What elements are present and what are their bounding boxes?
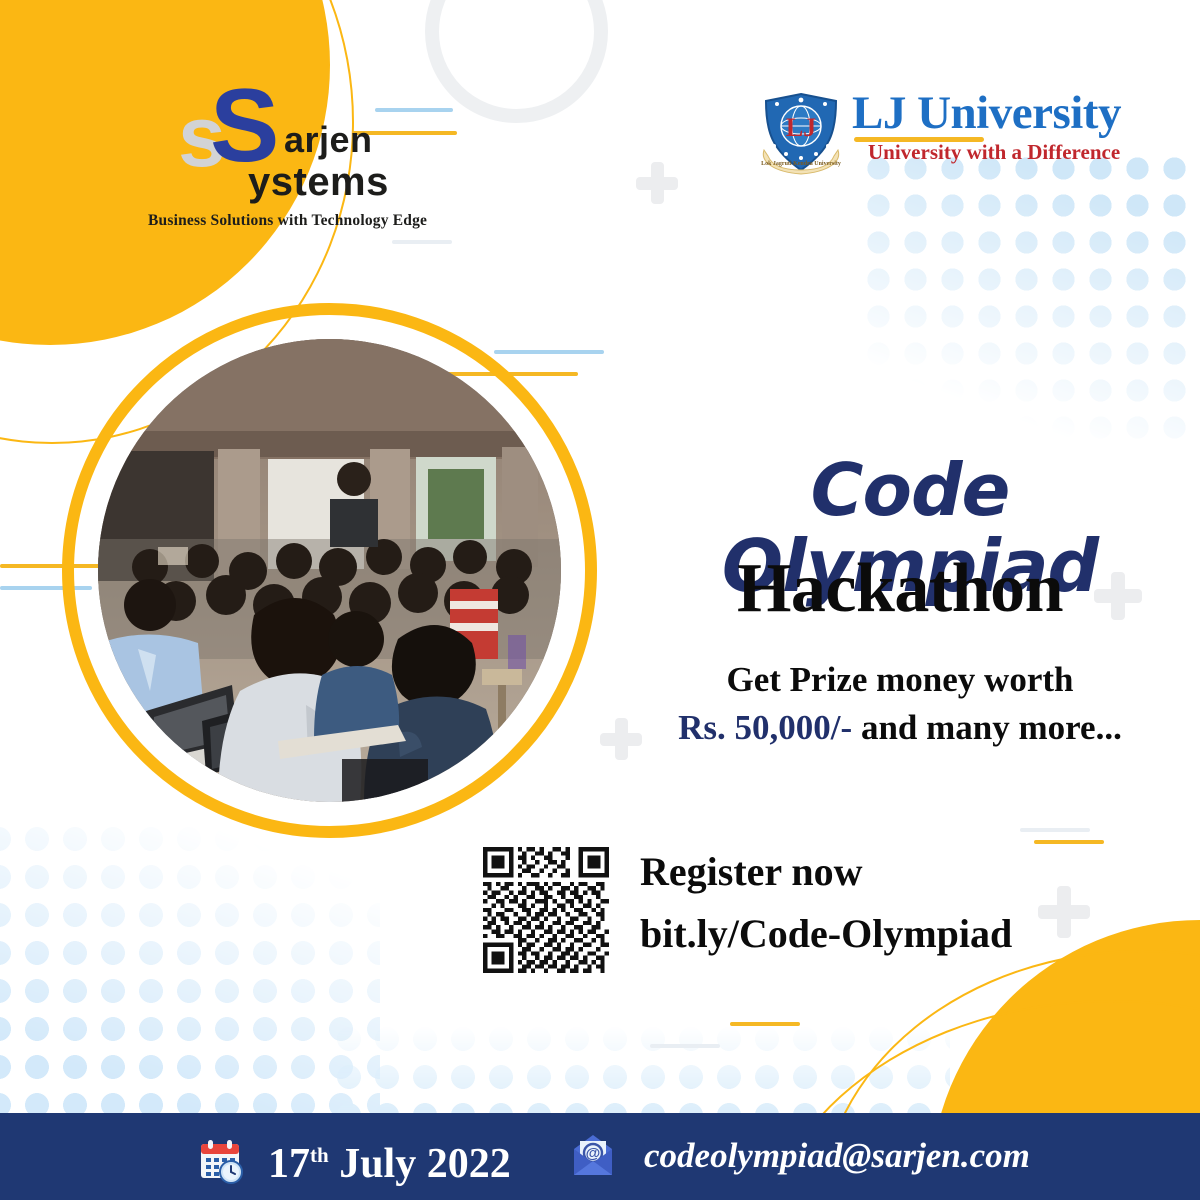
footer-date-item: 17th July 2022	[196, 1131, 511, 1188]
calendar-icon	[196, 1135, 246, 1185]
lj-university-tagline: University with a Difference	[868, 140, 1120, 164]
prize-line-2-rest: and many more...	[852, 708, 1122, 747]
lj-university-logo: LJ Lok Jagruti Kendra University LJ Univ…	[760, 92, 1130, 177]
sarjen-word-ystems: ystems	[248, 162, 389, 202]
qr-code[interactable]	[483, 847, 609, 973]
plus-mark-icon-bottom-right	[1038, 886, 1090, 938]
sarjen-systems-logo: s S arjen ystems Business Solutions with…	[148, 70, 448, 195]
blue-dot-pattern-bottom-left	[0, 820, 380, 1120]
grey-ring-top	[425, 0, 608, 123]
blue-dot-pattern-bottom-middle	[330, 1020, 950, 1120]
accent-rule-gold-right	[1034, 840, 1104, 844]
event-date-day: 17	[268, 1141, 310, 1187]
event-date-rest: July 2022	[329, 1141, 511, 1187]
accent-rule-pale-right	[1020, 828, 1090, 832]
accent-rule-gold-bottom	[730, 1022, 800, 1026]
poster-canvas: s S arjen ystems Business Solutions with…	[0, 0, 1200, 1200]
event-date-ordinal: th	[310, 1143, 329, 1167]
event-date: 17th July 2022	[268, 1131, 511, 1188]
accent-rule-pale-bottom	[650, 1044, 720, 1048]
register-label: Register now	[640, 850, 863, 894]
page-subtitle: Hackathon	[620, 552, 1180, 626]
plus-mark-icon-top	[636, 162, 678, 204]
prize-line-2: Rs. 50,000/- and many more...	[620, 708, 1180, 748]
footer-bar: 17th July 2022 @ codeolympiad@sarjen.com	[0, 1113, 1200, 1200]
contact-email[interactable]: codeolympiad@sarjen.com	[644, 1135, 1030, 1177]
prize-amount: Rs. 50,000/-	[678, 708, 852, 747]
lj-university-name: LJ University	[852, 88, 1121, 138]
envelope-icon: @	[568, 1131, 618, 1181]
lj-crest-ribbon-text: Lok Jagruti Kendra University	[761, 161, 841, 167]
register-url[interactable]: bit.ly/Code-Olympiad	[640, 912, 1012, 956]
sarjen-tagline: Business Solutions with Technology Edge	[148, 212, 427, 230]
hackathon-photo	[98, 339, 561, 802]
blue-dot-pattern-top-right	[860, 150, 1200, 450]
sarjen-word-arjen: arjen	[284, 122, 373, 158]
accent-rule-pale-top	[392, 240, 452, 244]
prize-line-1: Get Prize money worth	[620, 660, 1180, 700]
lj-crest-icon: LJ Lok Jagruti Kendra University	[760, 92, 842, 176]
svg-text:LJ: LJ	[786, 113, 816, 142]
sarjen-logomark: s S arjen ystems	[148, 70, 448, 165]
accent-rule-blue-photo	[494, 350, 604, 354]
footer-email-item[interactable]: @ codeolympiad@sarjen.com	[568, 1131, 1030, 1181]
